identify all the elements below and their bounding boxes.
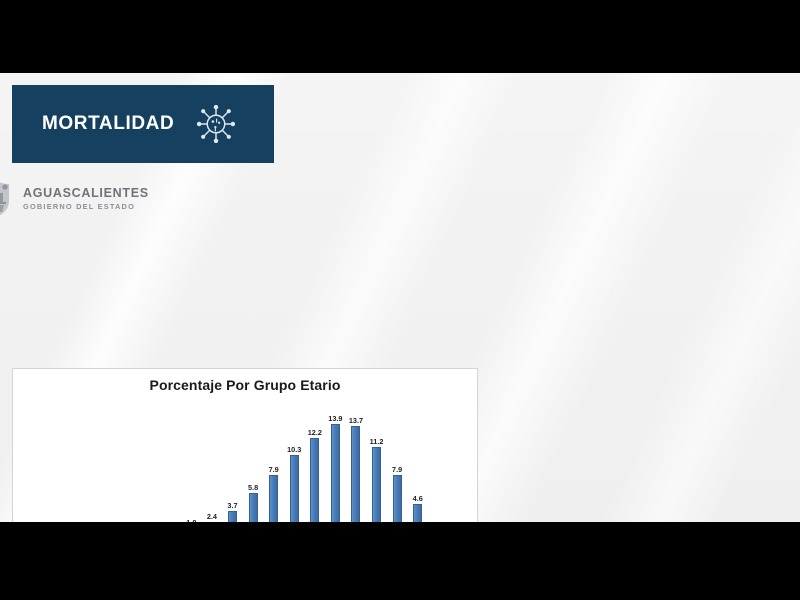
bar xyxy=(331,424,340,522)
bar-column: 13.7 xyxy=(346,399,367,522)
bar-column: 12.2 xyxy=(305,399,326,522)
slide-title-banner: MORTALIDAD xyxy=(12,85,274,163)
bar-value-label: 13.9 xyxy=(328,414,342,423)
logo-line-2: GOBIERNO DEL ESTADO xyxy=(23,202,149,211)
bar-column: 0.2 xyxy=(99,399,120,522)
bar-chart-panel: Porcentaje Por Grupo Etario 0.10.10.00.2… xyxy=(12,368,478,522)
bar xyxy=(413,504,422,522)
bar xyxy=(228,511,237,522)
bar-value-label: 5.8 xyxy=(248,483,258,492)
bar-column: 3.7 xyxy=(222,399,243,522)
bar-column: 0.1 xyxy=(37,399,58,522)
bar-value-label: 2.4 xyxy=(207,512,217,521)
bar xyxy=(310,438,319,522)
bar xyxy=(351,426,360,522)
bar-column: 1.4 xyxy=(428,399,449,522)
government-logo: AGUASCALIENTES GOBIERNO DEL ESTADO xyxy=(0,179,780,219)
bar-column: 11.2 xyxy=(366,399,387,522)
bar-column: 1.8 xyxy=(181,399,202,522)
bar-value-label: 12.2 xyxy=(308,428,322,437)
state-crest-icon xyxy=(0,179,14,219)
bar-value-label: 7.9 xyxy=(392,465,402,474)
bar-column: 0.7 xyxy=(140,399,161,522)
bar xyxy=(269,475,278,522)
bar-column: 0.1 xyxy=(58,399,79,522)
bar-column: 5.8 xyxy=(243,399,264,522)
logo-line-1: AGUASCALIENTES xyxy=(23,187,149,201)
bar-column: 7.9 xyxy=(387,399,408,522)
bar-column: 13.9 xyxy=(325,399,346,522)
bar-column: 10.3 xyxy=(284,399,305,522)
bar-column: 2.4 xyxy=(202,399,223,522)
bar xyxy=(249,493,258,522)
virus-icon xyxy=(196,104,236,144)
bar-chart-plot: 0.10.10.00.20.40.71.31.82.43.75.87.910.3… xyxy=(37,399,469,522)
bar-column: 0.4 xyxy=(119,399,140,522)
bar-column: 0.0 xyxy=(78,399,99,522)
bar-column: 1.3 xyxy=(160,399,181,522)
bar xyxy=(393,475,402,522)
bar-value-label: 4.6 xyxy=(413,494,423,503)
bar-value-label: 13.7 xyxy=(349,416,363,425)
page-title: MORTALIDAD xyxy=(42,113,174,135)
bar-value-label: 1.8 xyxy=(186,518,196,522)
bar-column: 7.9 xyxy=(263,399,284,522)
bar-column: 0.6 xyxy=(449,399,470,522)
bar xyxy=(290,455,299,522)
bar-chart-title: Porcentaje Por Grupo Etario xyxy=(13,369,477,393)
slide-canvas: MORTALIDAD xyxy=(0,73,800,522)
bar-value-label: 3.7 xyxy=(227,501,237,510)
bar-value-label: 7.9 xyxy=(269,465,279,474)
bar-value-label: 1.4 xyxy=(433,521,443,522)
bar-column: 4.6 xyxy=(407,399,428,522)
bar xyxy=(372,447,381,522)
bar-value-label: 11.2 xyxy=(370,437,384,446)
bar-value-label: 10.3 xyxy=(287,445,301,454)
